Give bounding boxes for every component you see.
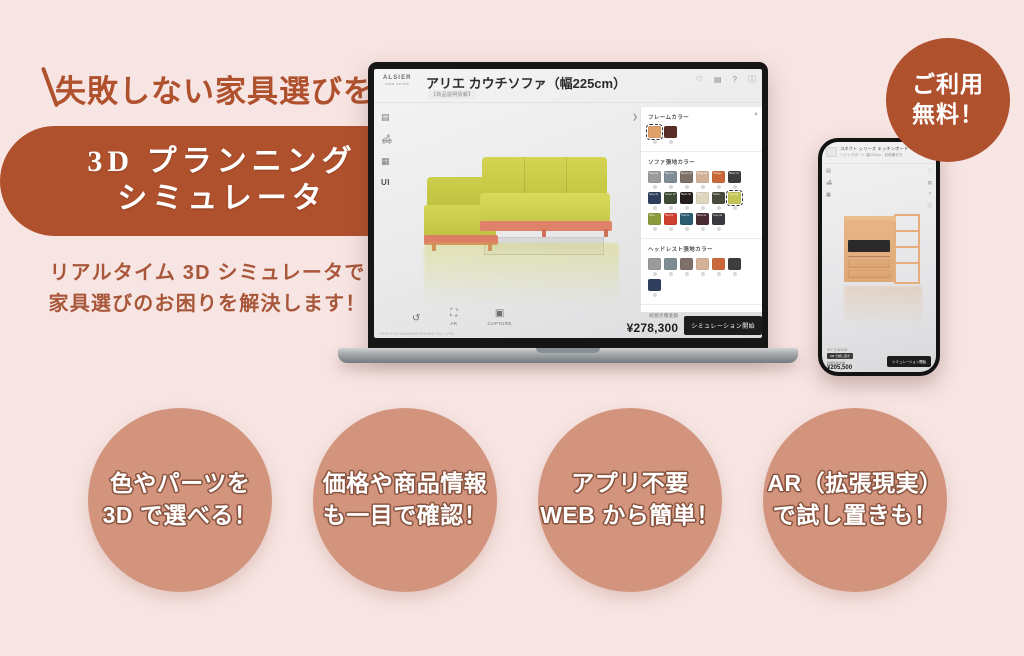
swatch-cell[interactable]: Black 01 — [728, 171, 741, 189]
swatch-cell[interactable] — [664, 258, 677, 276]
cabinet-drawer — [848, 260, 890, 268]
favorite-icon[interactable]: ♡ — [928, 169, 932, 174]
swatch-radio[interactable] — [653, 206, 657, 210]
price-block: 総額見積金額 ¥278,300 — [627, 313, 679, 337]
swatch-cell[interactable]: Khaki — [712, 192, 725, 210]
hero-lede: リアルタイム 3D シミュレータで 家具選びのお困りを解決します！ — [0, 258, 415, 320]
swatch-cell[interactable]: Wine 01 — [696, 213, 709, 231]
swatch-cell[interactable]: Red 01 — [664, 213, 677, 231]
phone-left-rail: ▤ 🛋 ▦ — [826, 169, 832, 198]
phone-product-subtitle: リビングボード 幅120cm・収納棚付き — [840, 152, 903, 157]
feature-circle-1: 色やパーツを3D で選べる！ — [88, 408, 272, 592]
phone-mockup: コネクト シリーズ キッチンボード リビングボード 幅120cm・収納棚付き ❮… — [818, 138, 940, 376]
color-swatch[interactable] — [680, 258, 693, 270]
list-icon[interactable]: ▤ — [714, 76, 722, 84]
swatch-radio[interactable] — [701, 185, 705, 189]
color-swatch[interactable]: Red 01 — [664, 213, 677, 225]
swatch-radio[interactable] — [733, 272, 737, 276]
shelf-board — [896, 246, 918, 248]
info-icon[interactable]: ⓘ — [928, 204, 933, 209]
help-icon[interactable]: ? — [733, 76, 737, 84]
hero-title-line1: 3D プランニング — [87, 144, 356, 181]
color-swatch[interactable]: Olive — [648, 213, 661, 225]
color-swatch[interactable]: Gray 02 — [712, 213, 725, 225]
feature-line2: WEB から簡単！ — [540, 500, 720, 532]
color-swatch[interactable] — [712, 258, 725, 270]
chevron-up-icon[interactable]: ▲ — [753, 111, 759, 117]
grid-icon[interactable]: ▦ — [826, 193, 832, 198]
swatch-cell[interactable] — [648, 279, 661, 297]
feature-line1: 色やパーツを — [110, 468, 251, 500]
swatch-cell[interactable] — [728, 258, 741, 276]
floor-reflection — [424, 243, 619, 305]
feature-line2: 3D で選べる！ — [103, 500, 258, 532]
favorite-icon[interactable]: ♡ — [696, 76, 703, 84]
cabinet-3d-model[interactable] — [844, 214, 922, 286]
phone-right-rail: ♡ ▤ ? ⓘ — [928, 169, 933, 208]
color-swatch[interactable]: Khaki — [712, 192, 725, 204]
swatch-tag: Navy 01 — [649, 193, 659, 196]
config-section-title: ソファ張地カラー — [648, 158, 755, 166]
start-simulation-button[interactable]: シミュレーション開始 — [684, 316, 762, 335]
list-icon[interactable]: ▤ — [928, 181, 932, 186]
swatch-radio[interactable] — [685, 227, 689, 231]
config-section: ソファ張地カラーGray 01Blue 01Brown 01Beige 01Or… — [641, 152, 762, 239]
panel-collapse-icon[interactable]: ❯ — [632, 113, 638, 121]
swatch-tag: Brown 01 — [681, 172, 692, 175]
swatch-cell[interactable]: Brown 01 — [680, 171, 693, 189]
color-swatch[interactable]: Black 02 — [680, 192, 693, 204]
cabinet-body — [844, 220, 894, 282]
laptop-base — [338, 348, 798, 363]
cushion-divider — [566, 157, 567, 195]
swatch-radio[interactable] — [717, 272, 721, 276]
brand-subtitle: sofa series — [383, 81, 412, 86]
swatch-cell[interactable] — [680, 258, 693, 276]
sofa-icon[interactable]: 🛋 — [826, 181, 832, 186]
swatch-tag: Red 01 — [665, 214, 673, 217]
price-label: 総額見積金額 — [627, 313, 679, 319]
swatch-radio[interactable] — [701, 206, 705, 210]
swatch-cell[interactable]: Gray 01 — [648, 171, 661, 189]
feature-line1: アプリ不要 — [571, 468, 689, 500]
ar-icon: ⛶ — [450, 309, 457, 319]
sofa-wood-frame-main — [480, 221, 612, 231]
ui-toggle-label[interactable]: UI — [381, 179, 392, 187]
swatch-radio[interactable] — [669, 227, 673, 231]
phone-price-value: ¥205,500 — [827, 365, 852, 371]
swatch-radio[interactable] — [653, 140, 657, 144]
color-swatch[interactable]: Navy 01 — [648, 192, 661, 204]
swatch-tag: Black 01 — [729, 172, 739, 175]
color-swatch[interactable]: Blue 01 — [664, 171, 677, 183]
swatch-cell[interactable] — [648, 126, 661, 144]
swatch-cell[interactable]: Teal 01 — [680, 213, 693, 231]
swatch-radio[interactable] — [653, 272, 657, 276]
color-swatch[interactable] — [696, 258, 709, 270]
feature-circle-3: アプリ不要WEB から簡単！ — [538, 408, 722, 592]
price-bar: 総額見積金額 ¥278,300 シミュレーション開始 — [572, 312, 762, 338]
laptop-screen: ALSIER sofa series アリエ カウチソファ（幅225cm） 【商… — [374, 69, 762, 338]
left-tool-rail: ▤ 🛋 ▦ UI — [381, 113, 392, 187]
color-swatch[interactable] — [664, 126, 677, 138]
swatch-tag: Gray 02 — [713, 214, 722, 217]
product-thumbnail — [826, 147, 837, 157]
phone-simulation-button[interactable]: シミュレーション開始 — [887, 356, 931, 367]
swatch-radio[interactable] — [717, 185, 721, 189]
feature-line2: も一目で確認！ — [323, 500, 488, 532]
sofa-leg — [604, 229, 608, 237]
config-section: ヘッドレスト張地カラー — [641, 239, 762, 305]
color-swatch[interactable] — [648, 126, 661, 138]
swatch-tag: Lime 01 — [729, 193, 738, 196]
config-section-title: フレームカラー — [648, 113, 755, 121]
sofa-leg — [542, 229, 546, 237]
swatch-tag: Black 02 — [681, 193, 691, 196]
swatch-cell[interactable]: Beige 01 — [696, 171, 709, 189]
swatch-radio[interactable] — [669, 206, 673, 210]
swatch-cell[interactable] — [664, 126, 677, 144]
camera-icon: ▣ — [487, 309, 511, 319]
swatch-cell[interactable]: Ivory — [696, 192, 709, 210]
color-swatch[interactable]: Gray 01 — [648, 171, 661, 183]
hero-lede-line1: リアルタイム 3D シミュレータで — [0, 258, 415, 289]
color-swatch[interactable]: Teal 01 — [680, 213, 693, 225]
swatch-cell[interactable]: Lime 01 — [728, 192, 741, 210]
swatch-radio[interactable] — [653, 185, 657, 189]
swatch-cell[interactable] — [696, 258, 709, 276]
sofa-seat — [480, 193, 610, 223]
capture-button[interactable]: ▣ CAPTURE — [487, 309, 511, 326]
swatch-radio[interactable] — [653, 227, 657, 231]
hero-title-line2: シミュレータ — [117, 181, 326, 218]
free-badge-line1: ご利用 — [912, 70, 984, 100]
swatch-cell[interactable]: Orange — [712, 171, 725, 189]
swatch-tag: Wine 01 — [697, 214, 707, 217]
header-icon-group: ♡ ▤ ? ⓘ — [696, 76, 756, 84]
configurator-panel[interactable]: ▲ フレームカラーソファ張地カラーGray 01Blue 01Brown 01B… — [640, 107, 762, 312]
swatch-tag: Teal 01 — [681, 214, 689, 217]
swatch-radio[interactable] — [669, 272, 673, 276]
swatch-cell[interactable]: Black 02 — [680, 192, 693, 210]
price-value: ¥278,300 — [627, 321, 679, 335]
product-3d-viewport[interactable] — [414, 109, 637, 296]
swatch-radio[interactable] — [685, 272, 689, 276]
sofa-backrest — [482, 157, 607, 195]
phone-meta-text: サイズ W1200 — [827, 347, 847, 352]
feature-circle-4: AR（拡張現実）で試し置きも！ — [763, 408, 947, 592]
color-swatch[interactable]: Black 01 — [728, 171, 741, 183]
layers-icon[interactable]: ▤ — [826, 169, 832, 174]
feature-line1: 価格や商品情報 — [323, 468, 488, 500]
free-usage-badge: ご利用 無料！ — [886, 38, 1010, 162]
phone-bottom-bar: サイズ W1200 AR で試し置き 総額見積金額 ¥205,500 シミュレー… — [822, 332, 936, 372]
swatch-radio[interactable] — [669, 140, 673, 144]
undo-button[interactable]: ↺ — [412, 314, 420, 326]
swatch-cell[interactable]: Gray 02 — [712, 213, 725, 231]
shelf-board — [848, 256, 890, 257]
laptop-notch — [536, 348, 600, 353]
brand-logo: ALSIER sofa series — [383, 75, 412, 86]
swatch-tag: Green 01 — [665, 193, 676, 196]
color-swatch[interactable] — [728, 258, 741, 270]
color-swatch[interactable]: Lime 01 — [728, 192, 741, 204]
swatch-tag: Gray 01 — [649, 172, 658, 175]
laptop-mockup: ALSIER sofa series アリエ カウチソファ（幅225cm） 【商… — [368, 62, 768, 372]
kicker-row: 失敗しない家具選びを — [0, 60, 430, 116]
swatch-cell[interactable]: Green 01 — [664, 192, 677, 210]
sofa-icon[interactable]: 🛋 — [381, 135, 392, 144]
swatch-cell[interactable] — [712, 258, 725, 276]
feature-line2: で試し置きも！ — [773, 500, 938, 532]
layers-icon[interactable]: ▤ — [381, 113, 392, 122]
swatch-tag: Khaki — [713, 193, 720, 196]
color-swatch[interactable]: Wine 01 — [696, 213, 709, 225]
swatch-radio[interactable] — [669, 185, 673, 189]
info-icon[interactable]: ⓘ — [748, 76, 756, 84]
hero-kicker: 失敗しない家具選びを — [55, 66, 375, 111]
copyright-text: ©HOTTA WOODWORKING CO.,LTD. — [380, 331, 455, 336]
undo-icon: ↺ — [412, 314, 420, 324]
feature-circle-2: 価格や商品情報も一目で確認！ — [313, 408, 497, 592]
swatch-radio[interactable] — [653, 293, 657, 297]
sofa-3d-model — [422, 157, 637, 277]
swatch-cell[interactable] — [648, 258, 661, 276]
feature-circle-row: 色やパーツを3D で選べる！価格や商品情報も一目で確認！アプリ不要WEB から簡… — [0, 408, 1024, 608]
swatch-radio[interactable] — [685, 206, 689, 210]
config-section: フレームカラー — [641, 107, 762, 152]
ar-button[interactable]: ⛶ AR — [450, 309, 457, 326]
color-swatch[interactable] — [648, 258, 661, 270]
color-swatch[interactable]: Green 01 — [664, 192, 677, 204]
hero-lede-line2: 家具選びのお困りを解決します！ — [0, 289, 415, 320]
promo-banner: 失敗しない家具選びを 3D プランニング シミュレータ リアルタイム 3D シミ… — [0, 0, 1024, 656]
swatch-radio[interactable] — [733, 185, 737, 189]
color-swatch[interactable]: Brown 01 — [680, 171, 693, 183]
swatch-radio[interactable] — [717, 206, 721, 210]
floor-reflection — [844, 286, 922, 326]
app-header: ALSIER sofa series アリエ カウチソファ（幅225cm） 【商… — [374, 69, 762, 103]
color-swatch[interactable] — [664, 258, 677, 270]
config-section-title: ヘッドレスト張地カラー — [648, 245, 755, 253]
swatch-radio[interactable] — [733, 206, 737, 210]
shelf-board — [896, 262, 918, 264]
phone-screen: コネクト シリーズ キッチンボード リビングボード 幅120cm・収納棚付き ❮… — [822, 142, 936, 372]
swatch-radio[interactable] — [701, 272, 705, 276]
viewport-toolbar: ↺ ⛶ AR ▣ CAPTURE — [412, 309, 512, 326]
shelf-board — [896, 230, 918, 232]
color-swatch[interactable]: Orange — [712, 171, 725, 183]
cabinet-drawer — [848, 270, 890, 278]
capture-label: CAPTURE — [487, 321, 511, 326]
hero-copy: 失敗しない家具選びを 3D プランニング シミュレータ リアルタイム 3D シミ… — [0, 60, 430, 320]
swatch-tag: Beige 01 — [697, 172, 707, 175]
swatch-cell[interactable]: Blue 01 — [664, 171, 677, 189]
color-swatch[interactable]: Ivory — [696, 192, 709, 204]
color-swatch[interactable]: Beige 01 — [696, 171, 709, 183]
swatch-cell[interactable]: Navy 01 — [648, 192, 661, 210]
feature-line1: AR（拡張現実） — [767, 468, 942, 500]
cabinet-open-shelf — [894, 214, 920, 284]
swatch-tag: Orange — [713, 172, 722, 175]
cushion-divider — [524, 157, 525, 195]
phone-ar-chip[interactable]: AR で試し置き — [827, 353, 853, 359]
laptop-lid: ALSIER sofa series アリエ カウチソファ（幅225cm） 【商… — [368, 62, 768, 350]
swatch-radio[interactable] — [685, 185, 689, 189]
ar-label: AR — [450, 321, 457, 326]
hero-title-banner: 3D プランニング シミュレータ — [0, 126, 430, 236]
product-subtitle[interactable]: 【商品説明情報】 — [428, 90, 476, 99]
free-badge-line2: 無料！ — [912, 100, 984, 130]
cabinet-dark-panel — [848, 240, 890, 252]
swatch-tag: Ivory — [697, 193, 703, 196]
grid-icon[interactable]: ▦ — [381, 157, 392, 166]
swatch-radio[interactable] — [701, 227, 705, 231]
color-swatch[interactable] — [648, 279, 661, 291]
swatch-radio[interactable] — [717, 227, 721, 231]
help-icon[interactable]: ? — [928, 192, 931, 197]
swatch-tag: Blue 01 — [665, 172, 674, 175]
swatch-tag: Olive — [649, 214, 655, 217]
swatch-cell[interactable]: Olive — [648, 213, 661, 231]
